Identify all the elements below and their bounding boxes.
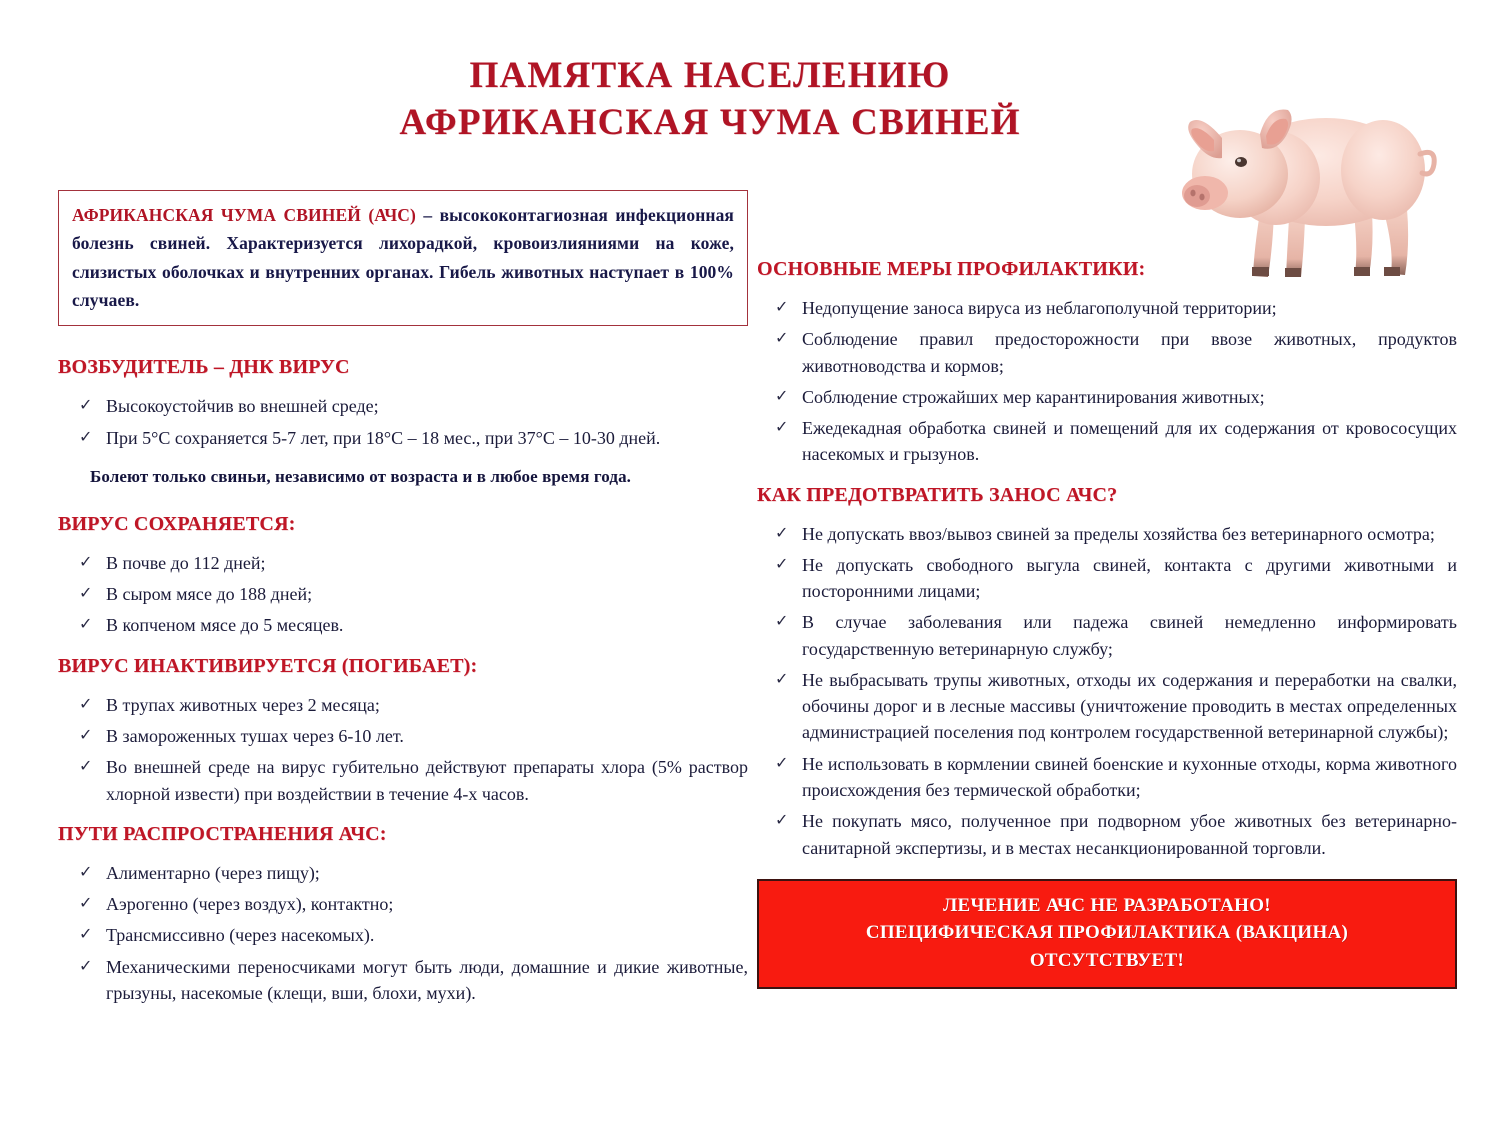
- bullet-list: ✓В почве до 112 дней; ✓В сыром мясе до 1…: [58, 550, 748, 639]
- check-icon: ✓: [775, 295, 788, 318]
- list-item-text: В трупах животных через 2 месяца;: [106, 695, 380, 715]
- check-icon: ✓: [775, 326, 788, 349]
- list-item: ✓В случае заболевания или падежа свиней …: [757, 609, 1457, 662]
- intro-box: АФРИКАНСКАЯ ЧУМА СВИНЕЙ (АЧС) – высококо…: [58, 190, 748, 326]
- list-item: ✓При 5°C сохраняется 5-7 лет, при 18°C –…: [58, 425, 748, 451]
- list-item-text: В сыром мясе до 188 дней;: [106, 584, 312, 604]
- list-item: ✓Соблюдение правил предосторожности при …: [757, 326, 1457, 379]
- list-item-text: Алиментарно (через пищу);: [106, 863, 320, 883]
- check-icon: ✓: [775, 552, 788, 575]
- check-icon: ✓: [775, 751, 788, 774]
- bullet-list: ✓Недопущение заноса вируса из неблагопол…: [757, 295, 1457, 468]
- list-item-text: Ежедекадная обработка свиней и помещений…: [802, 418, 1457, 464]
- check-icon: ✓: [775, 415, 788, 438]
- section-virus-survives: ВИРУС СОХРАНЯЕТСЯ: ✓В почве до 112 дней;…: [58, 513, 748, 639]
- list-item-text: Высокоустойчив во внешней среде;: [106, 396, 379, 416]
- check-icon: ✓: [775, 521, 788, 544]
- section-heading: ВОЗБУДИТЕЛЬ – ДНК ВИРУС: [58, 356, 748, 379]
- list-item-text: В копченом мясе до 5 месяцев.: [106, 615, 343, 635]
- check-icon: ✓: [775, 384, 788, 407]
- check-icon: ✓: [79, 425, 92, 448]
- list-item: ✓Алиментарно (через пищу);: [58, 860, 748, 886]
- list-item-text: Трансмиссивно (через насекомых).: [106, 925, 374, 945]
- bullet-list: ✓В трупах животных через 2 месяца; ✓В за…: [58, 692, 748, 807]
- check-icon: ✓: [79, 891, 92, 914]
- check-icon: ✓: [79, 922, 92, 945]
- list-item: ✓Не использовать в кормлении свиней боен…: [757, 751, 1457, 804]
- list-item: ✓Аэрогенно (через воздух), контактно;: [58, 891, 748, 917]
- list-item-text: Механическими переносчиками могут быть л…: [106, 957, 748, 1003]
- list-item: ✓Соблюдение строжайших мер карантинирова…: [757, 384, 1457, 410]
- check-icon: ✓: [79, 581, 92, 604]
- list-item-text: Соблюдение правил предосторожности при в…: [802, 329, 1457, 375]
- list-item: ✓Во внешней среде на вирус губительно де…: [58, 754, 748, 807]
- check-icon: ✓: [775, 609, 788, 632]
- list-item-text: В почве до 112 дней;: [106, 553, 266, 573]
- list-item-text: Не выбрасывать трупы животных, отходы их…: [802, 670, 1457, 743]
- check-icon: ✓: [79, 550, 92, 573]
- warning-line-3: ОТСУТСТВУЕТ!: [769, 947, 1445, 975]
- pathogen-note: Болеют только свиньи, независимо от возр…: [90, 467, 748, 487]
- list-item: ✓Механическими переносчиками могут быть …: [58, 954, 748, 1007]
- list-item: ✓Не покупать мясо, полученное при подвор…: [757, 808, 1457, 861]
- check-icon: ✓: [79, 954, 92, 977]
- check-icon: ✓: [79, 393, 92, 416]
- title-line-2: АФРИКАНСКАЯ ЧУМА СВИНЕЙ: [330, 99, 1090, 146]
- list-item: ✓В почве до 112 дней;: [58, 550, 748, 576]
- list-item-text: Во внешней среде на вирус губительно дей…: [106, 757, 748, 803]
- check-icon: ✓: [79, 692, 92, 715]
- list-item: ✓Недопущение заноса вируса из неблагопол…: [757, 295, 1457, 321]
- list-item: ✓Трансмиссивно (через насекомых).: [58, 922, 748, 948]
- section-virus-inactivated: ВИРУС ИНАКТИВИРУЕТСЯ (ПОГИБАЕТ): ✓В труп…: [58, 655, 748, 807]
- check-icon: ✓: [79, 612, 92, 635]
- list-item-text: Соблюдение строжайших мер карантинирован…: [802, 387, 1265, 407]
- list-item: ✓Не выбрасывать трупы животных, отходы и…: [757, 667, 1457, 746]
- right-column: ОСНОВНЫЕ МЕРЫ ПРОФИЛАКТИКИ: ✓Недопущение…: [757, 258, 1457, 989]
- section-transmission: ПУТИ РАСПРОСТРАНЕНИЯ АЧС: ✓Алиментарно (…: [58, 823, 748, 1006]
- warning-line-1: ЛЕЧЕНИЕ АЧС НЕ РАЗРАБОТАНО!: [769, 892, 1445, 920]
- intro-text: АФРИКАНСКАЯ ЧУМА СВИНЕЙ (АЧС) – высококо…: [72, 201, 734, 314]
- section-heading: ПУТИ РАСПРОСТРАНЕНИЯ АЧС:: [58, 823, 748, 846]
- section-heading: КАК ПРЕДОТВРАТИТЬ ЗАНОС АЧС?: [757, 484, 1457, 507]
- list-item-text: При 5°C сохраняется 5-7 лет, при 18°C – …: [106, 428, 660, 448]
- check-icon: ✓: [79, 860, 92, 883]
- check-icon: ✓: [775, 667, 788, 690]
- section-heading: ОСНОВНЫЕ МЕРЫ ПРОФИЛАКТИКИ:: [757, 258, 1457, 281]
- list-item-text: Аэрогенно (через воздух), контактно;: [106, 894, 393, 914]
- list-item-text: Не допускать свободного выгула свиней, к…: [802, 555, 1457, 601]
- bullet-list: ✓Высокоустойчив во внешней среде; ✓При 5…: [58, 393, 748, 451]
- list-item-text: Не использовать в кормлении свиней боенс…: [802, 754, 1457, 800]
- list-item-text: В случае заболевания или падежа свиней н…: [802, 612, 1457, 658]
- page-title: ПАМЯТКА НАСЕЛЕНИЮ АФРИКАНСКАЯ ЧУМА СВИНЕ…: [330, 52, 1090, 147]
- warning-banner: ЛЕЧЕНИЕ АЧС НЕ РАЗРАБОТАНО! СПЕЦИФИЧЕСКА…: [757, 879, 1457, 990]
- intro-lead: АФРИКАНСКАЯ ЧУМА СВИНЕЙ (АЧС): [72, 205, 416, 225]
- list-item-text: Недопущение заноса вируса из неблагополу…: [802, 298, 1277, 318]
- section-prevent-introduction: КАК ПРЕДОТВРАТИТЬ ЗАНОС АЧС? ✓Не допуска…: [757, 484, 1457, 861]
- check-icon: ✓: [79, 723, 92, 746]
- list-item-text: В замороженных тушах через 6-10 лет.: [106, 726, 404, 746]
- list-item: ✓В трупах животных через 2 месяца;: [58, 692, 748, 718]
- list-item-text: Не допускать ввоз/вывоз свиней за предел…: [802, 524, 1435, 544]
- bullet-list: ✓Алиментарно (через пищу); ✓Аэрогенно (ч…: [58, 860, 748, 1006]
- list-item: ✓Не допускать свободного выгула свиней, …: [757, 552, 1457, 605]
- section-pathogen: ВОЗБУДИТЕЛЬ – ДНК ВИРУС ✓Высокоустойчив …: [58, 356, 748, 487]
- check-icon: ✓: [775, 808, 788, 831]
- list-item: ✓В замороженных тушах через 6-10 лет.: [58, 723, 748, 749]
- list-item: ✓Не допускать ввоз/вывоз свиней за преде…: [757, 521, 1457, 547]
- section-heading: ВИРУС ИНАКТИВИРУЕТСЯ (ПОГИБАЕТ):: [58, 655, 748, 678]
- section-prevention-measures: ОСНОВНЫЕ МЕРЫ ПРОФИЛАКТИКИ: ✓Недопущение…: [757, 258, 1457, 468]
- bullet-list: ✓Не допускать ввоз/вывоз свиней за преде…: [757, 521, 1457, 861]
- list-item: ✓Ежедекадная обработка свиней и помещени…: [757, 415, 1457, 468]
- left-column: АФРИКАНСКАЯ ЧУМА СВИНЕЙ (АЧС) – высококо…: [58, 190, 748, 1022]
- list-item: ✓Высокоустойчив во внешней среде;: [58, 393, 748, 419]
- section-heading: ВИРУС СОХРАНЯЕТСЯ:: [58, 513, 748, 536]
- list-item-text: Не покупать мясо, полученное при подворн…: [802, 811, 1457, 857]
- list-item: ✓В копченом мясе до 5 месяцев.: [58, 612, 748, 638]
- check-icon: ✓: [79, 754, 92, 777]
- warning-line-2: СПЕЦИФИЧЕСКАЯ ПРОФИЛАКТИКА (ВАКЦИНА): [769, 919, 1445, 947]
- list-item: ✓В сыром мясе до 188 дней;: [58, 581, 748, 607]
- title-line-1: ПАМЯТКА НАСЕЛЕНИЮ: [330, 52, 1090, 99]
